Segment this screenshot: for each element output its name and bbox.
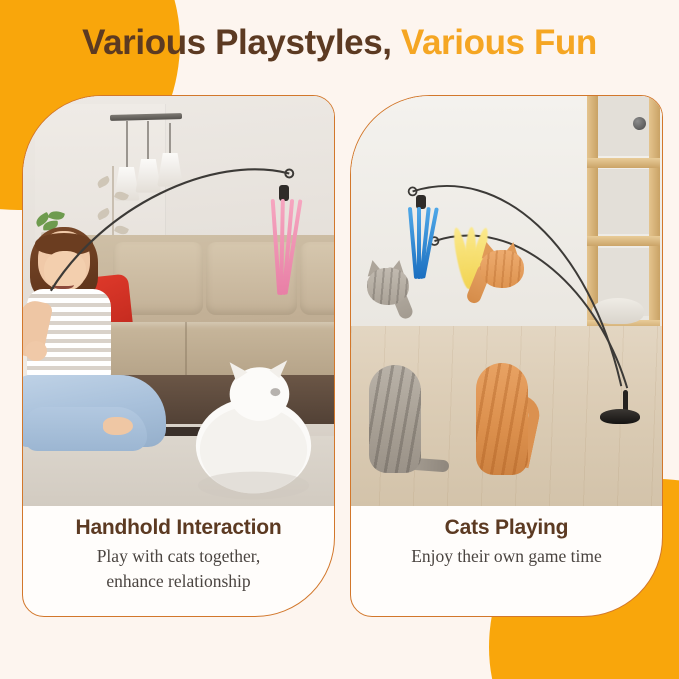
pendant-lamp xyxy=(147,121,149,159)
shelf-cushion xyxy=(592,298,644,324)
card-heading: Cats Playing xyxy=(351,513,662,543)
caption-handhold-interaction: Handhold Interaction Play with cats toge… xyxy=(23,506,334,617)
pendant-lamp xyxy=(126,121,128,167)
cats-playing-scene xyxy=(351,96,662,506)
suction-cup-base xyxy=(600,409,640,424)
photo-cats-playing xyxy=(351,96,662,506)
pendant-lamp xyxy=(169,123,171,153)
feature-card-handhold-interaction: Handhold Interaction Play with cats toge… xyxy=(22,95,335,617)
pink-tassel xyxy=(272,199,298,295)
card-subtitle-line-2: enhance relationship xyxy=(23,568,334,593)
title-dark-part: Various Playstyles, xyxy=(82,23,392,62)
orange-tabby-cat xyxy=(466,248,553,482)
title-accent-part: Various Fun xyxy=(401,23,597,62)
grey-tabby-cat xyxy=(363,260,444,473)
wall-knob xyxy=(633,117,646,130)
caption-cats-playing: Cats Playing Enjoy their own game time xyxy=(351,506,662,617)
card-heading: Handhold Interaction xyxy=(23,513,334,543)
girl-playing xyxy=(23,231,147,506)
feature-cards-row: Handhold Interaction Play with cats toge… xyxy=(0,95,679,620)
sofa-seat-split xyxy=(185,322,187,379)
card-subtitle-line-1: Play with cats together, xyxy=(23,543,334,568)
wooden-shelf xyxy=(581,96,662,326)
photo-handhold-interaction xyxy=(23,96,334,506)
living-room-scene xyxy=(23,96,334,506)
page-title: Various Playstyles, Various Fun xyxy=(0,20,679,66)
card-subtitle-line-1: Enjoy their own game time xyxy=(351,543,662,568)
feature-card-cats-playing: Cats Playing Enjoy their own game time xyxy=(350,95,663,617)
sofa-cushion xyxy=(300,242,334,316)
